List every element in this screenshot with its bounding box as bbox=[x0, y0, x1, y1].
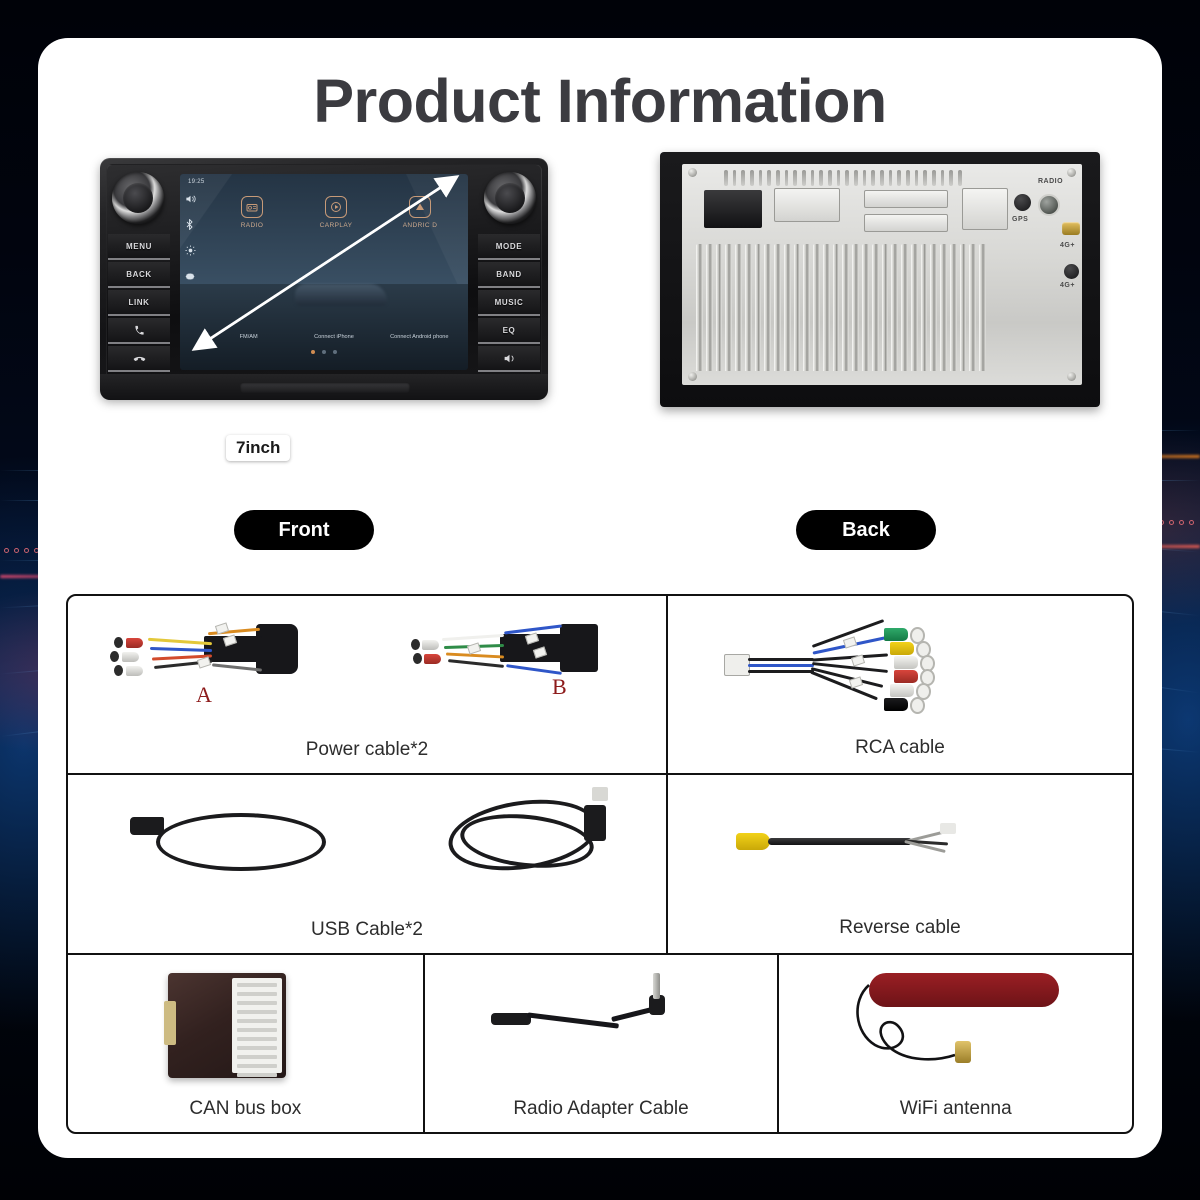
carplay-icon bbox=[325, 196, 347, 218]
radio-label: RADIO bbox=[1038, 178, 1063, 185]
gps-label: GPS bbox=[1012, 216, 1028, 223]
app-sublabel: FM/AM bbox=[210, 334, 288, 340]
hw-button-eq[interactable]: EQ bbox=[478, 318, 540, 344]
app-label: CARPLAY bbox=[299, 222, 373, 229]
hw-button-mute[interactable] bbox=[478, 346, 540, 372]
connector-panel bbox=[774, 188, 840, 222]
sma-connector-4g-top bbox=[1062, 222, 1080, 235]
app-sublabel: Connect iPhone bbox=[295, 334, 373, 340]
sma-connector bbox=[955, 1041, 971, 1063]
variant-label-b: B bbox=[552, 674, 567, 700]
accessory-caption: Power cable*2 bbox=[68, 739, 666, 773]
gps-port bbox=[1014, 194, 1031, 211]
hw-button-band[interactable]: BAND bbox=[478, 262, 540, 288]
app-tile-android[interactable]: ANDRIC D bbox=[383, 196, 457, 229]
hw-button-label: MUSIC bbox=[495, 298, 524, 307]
connector-row-bottom bbox=[864, 214, 948, 232]
brightness-icon[interactable] bbox=[185, 245, 196, 256]
antenna-cable bbox=[833, 983, 1023, 1078]
accessories-row: CAN bus box Radio Adapter Cable bbox=[68, 953, 1132, 1132]
settings-icon[interactable] bbox=[185, 271, 196, 282]
head-unit-screen[interactable]: 19:25 RADIO bbox=[180, 174, 468, 370]
radio-antenna-port bbox=[1038, 194, 1060, 216]
accessory-cell-reverse-cable: Reverse cable bbox=[666, 775, 1132, 952]
radio-adapter-cable-photo bbox=[425, 955, 778, 1098]
accessory-cell-wifi-antenna: WiFi antenna bbox=[777, 955, 1132, 1132]
power-cable-photo: A bbox=[68, 596, 666, 739]
hw-button-call[interactable] bbox=[108, 318, 170, 344]
app-tile-radio[interactable]: RADIO bbox=[215, 196, 289, 229]
screen-size-label: 7inch bbox=[226, 435, 290, 461]
accessory-cell-power-cable: A bbox=[68, 596, 666, 773]
front-view-pill: Front bbox=[234, 510, 374, 550]
usb-cable-photo bbox=[68, 775, 666, 918]
app-sublabel: Connect Android phone bbox=[380, 334, 458, 340]
accessory-cell-rca-cable: RCA cable bbox=[666, 596, 1132, 773]
hw-button-label: MENU bbox=[126, 242, 152, 251]
can-bus-box-photo bbox=[68, 955, 423, 1098]
right-button-column: MODE BAND MUSIC EQ bbox=[478, 234, 540, 374]
accessory-cell-can-bus-box: CAN bus box bbox=[68, 955, 423, 1132]
phone-hangup-icon bbox=[133, 352, 146, 365]
accessory-cell-usb-cable: USB Cable*2 bbox=[68, 775, 666, 952]
hw-button-label: LINK bbox=[128, 298, 149, 307]
hw-button-label: BAND bbox=[496, 270, 522, 279]
connector-iso-black bbox=[704, 190, 762, 228]
connector-row-top bbox=[864, 190, 948, 208]
hw-button-label: BACK bbox=[126, 270, 152, 279]
bluetooth-icon[interactable] bbox=[185, 219, 194, 230]
screen-clock: 19:25 bbox=[188, 179, 205, 185]
product-info-card: Product Information MENU BACK LINK bbox=[38, 38, 1162, 1158]
fourg-label-top: 4G+ bbox=[1060, 242, 1075, 249]
back-unit-photo: GPS RADIO 4G+ 4G+ bbox=[660, 152, 1100, 407]
left-button-column: MENU BACK LINK bbox=[108, 234, 170, 374]
screen-page-dots[interactable] bbox=[180, 350, 468, 354]
app-label: RADIO bbox=[215, 222, 289, 229]
accessory-cell-radio-adapter-cable: Radio Adapter Cable bbox=[423, 955, 778, 1132]
hw-button-mode[interactable]: MODE bbox=[478, 234, 540, 260]
page-title: Product Information bbox=[38, 66, 1162, 136]
hw-button-link[interactable]: LINK bbox=[108, 290, 170, 316]
hw-button-hangup[interactable] bbox=[108, 346, 170, 372]
volume-knob-left bbox=[112, 172, 164, 224]
hw-button-label: EQ bbox=[503, 326, 516, 335]
fourg-label-bottom: 4G+ bbox=[1060, 282, 1075, 289]
accessories-row: A bbox=[68, 596, 1132, 773]
phone-call-icon bbox=[134, 325, 145, 336]
screen-side-icon-bar bbox=[185, 194, 196, 282]
radio-icon bbox=[241, 196, 263, 218]
android-icon bbox=[409, 196, 431, 218]
hw-button-music[interactable]: MUSIC bbox=[478, 290, 540, 316]
hw-button-label: MODE bbox=[496, 242, 522, 251]
accessory-caption: CAN bus box bbox=[68, 1098, 423, 1132]
accessory-caption: Radio Adapter Cable bbox=[425, 1098, 778, 1132]
accessories-grid: A bbox=[66, 594, 1134, 1134]
hw-button-back[interactable]: BACK bbox=[108, 262, 170, 288]
variant-label-a: A bbox=[196, 682, 212, 708]
screen-sublabel-row: FM/AM Connect iPhone Connect Android pho… bbox=[206, 334, 462, 340]
connector-side-panel bbox=[962, 188, 1008, 230]
accessories-row: USB Cable*2 Reverse cable bbox=[68, 773, 1132, 952]
volume-icon[interactable] bbox=[185, 194, 196, 204]
accessory-caption: RCA cable bbox=[668, 737, 1132, 759]
app-label: ANDRIC D bbox=[383, 222, 457, 229]
screen-app-row: RADIO CARPLAY ANDRIC D bbox=[210, 196, 462, 229]
view-label-row: Front Back bbox=[38, 510, 1162, 568]
app-tile-carplay[interactable]: CARPLAY bbox=[299, 196, 373, 229]
hw-button-menu[interactable]: MENU bbox=[108, 234, 170, 260]
tuning-knob-right bbox=[484, 172, 536, 224]
accessory-caption: USB Cable*2 bbox=[68, 919, 666, 953]
sma-connector-4g-bottom bbox=[1064, 264, 1079, 279]
back-view-label: Back bbox=[842, 519, 890, 542]
front-view-label: Front bbox=[278, 519, 329, 542]
product-showcase: MENU BACK LINK bbox=[38, 150, 1162, 510]
wifi-antenna-photo bbox=[779, 955, 1132, 1098]
mute-icon bbox=[503, 353, 516, 364]
front-unit-photo: MENU BACK LINK bbox=[100, 150, 555, 410]
accessory-caption: Reverse cable bbox=[668, 917, 1132, 939]
back-view-pill: Back bbox=[796, 510, 936, 550]
rca-yellow-connector bbox=[736, 833, 770, 850]
accessory-caption: WiFi antenna bbox=[779, 1098, 1132, 1132]
